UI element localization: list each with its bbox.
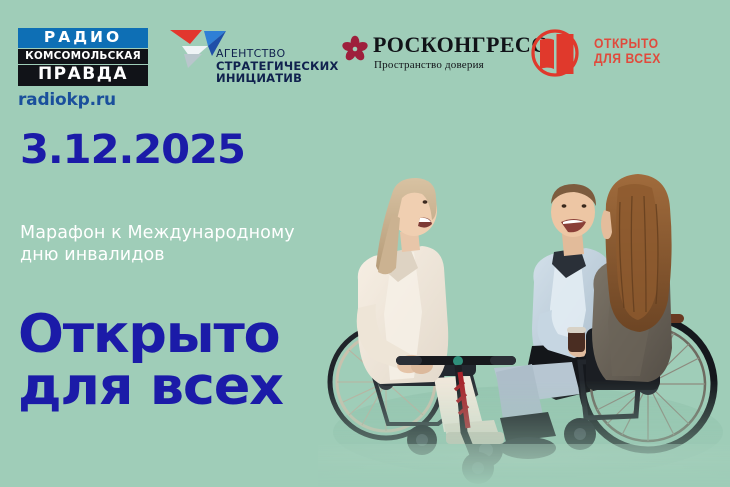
sponsor-logo-bar: РАДИО КОМСОМОЛЬСКАЯ ПРАВДА radiokp.ru АГ… (0, 0, 730, 110)
radio-kp-url[interactable]: radiokp.ru (18, 90, 148, 110)
open-for-all-line1: ОТКРЫТО (594, 36, 661, 51)
event-subtitle: Марафон к Международному дню инвалидов (20, 222, 420, 267)
radio-kp-logo[interactable]: РАДИО КОМСОМОЛЬСКАЯ ПРАВДА radiokp.ru (18, 28, 148, 110)
radio-kp-line2: КОМСОМОЛЬСКАЯ (18, 49, 148, 64)
open-for-all-text: ОТКРЫТО ДЛЯ ВСЕХ (594, 36, 668, 66)
poster-banner: РАДИО КОМСОМОЛЬСКАЯ ПРАВДА radiokp.ru АГ… (0, 0, 730, 487)
pinwheel-flower-icon (340, 34, 370, 64)
asi-logo[interactable]: АГЕНТСТВО СТРАТЕГИЧЕСКИХ ИНИЦИАТИВ (168, 26, 328, 98)
asi-logo-text: АГЕНТСТВО СТРАТЕГИЧЕСКИХ ИНИЦИАТИВ (216, 48, 339, 84)
poster-copy-block: 3.12.2025 Марафон к Международному дню и… (0, 130, 420, 413)
open-for-all-line2: ДЛЯ ВСЕХ (594, 51, 661, 66)
radio-kp-line3: ПРАВДА (18, 65, 148, 86)
event-headline: Открыто для всех (18, 309, 428, 413)
open-door-icon (528, 24, 590, 82)
asi-line3: ИНИЦИАТИВ (216, 72, 339, 84)
asi-line1: АГЕНТСТВО (216, 48, 339, 60)
event-date: 3.12.2025 (20, 130, 436, 170)
open-for-all-logo[interactable]: ОТКРЫТО ДЛЯ ВСЕХ (528, 24, 698, 86)
roscongress-tagline: Пространство доверия (374, 59, 484, 71)
roscongress-title: РОСКОНГРЕСС (373, 32, 548, 58)
roscongress-logo[interactable]: РОСКОНГРЕСС Пространство доверия (340, 32, 515, 88)
radio-kp-line1: РАДИО (18, 28, 148, 48)
